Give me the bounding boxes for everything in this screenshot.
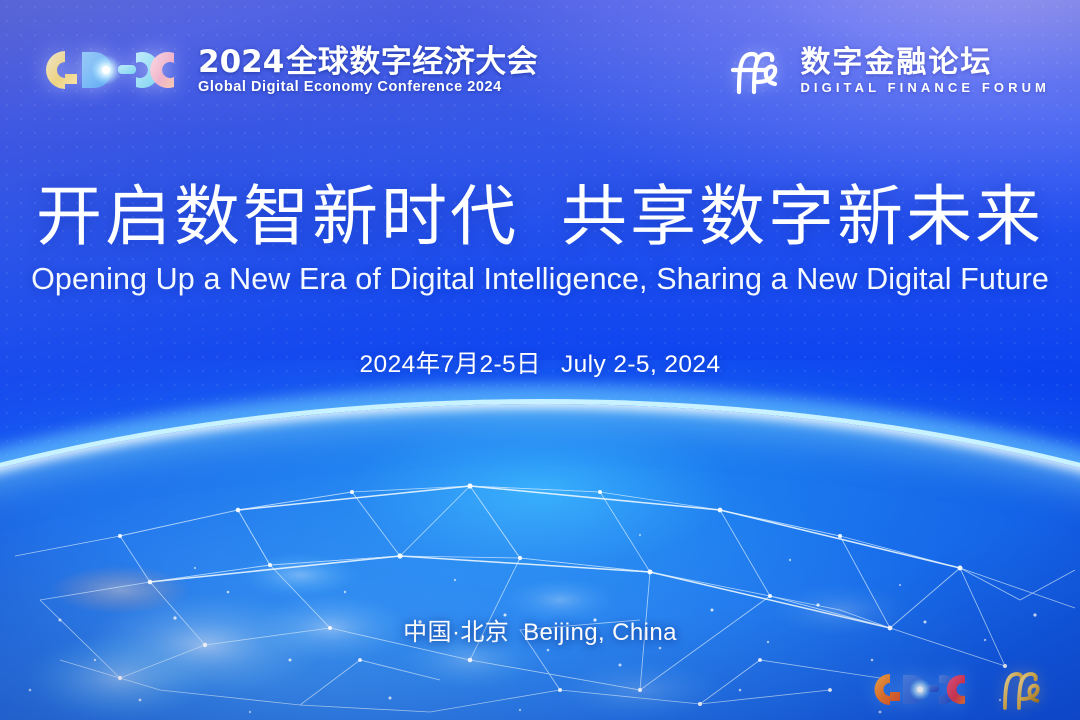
main-copy: 开启数智新时代共享数字新未来 Opening Up a New Era of D… bbox=[0, 180, 1080, 380]
headline-cn: 开启数智新时代共享数字新未来 bbox=[0, 180, 1080, 254]
forum-title-cn: 数字金融论坛 bbox=[800, 47, 1050, 79]
gdec-logo-lockup[interactable]: 2024全球数字经济大会 Global Digital Economy Conf… bbox=[32, 44, 538, 96]
event-date-en: July 2-5, 2024 bbox=[561, 351, 721, 378]
ff-monogram-icon bbox=[725, 46, 787, 96]
event-date-cn: 2024年7月2-5日 bbox=[360, 351, 541, 378]
conference-backdrop: 2024全球数字经济大会 Global Digital Economy Conf… bbox=[0, 0, 1080, 720]
event-location-cn: 中国·北京 bbox=[403, 619, 509, 646]
gdec-logo-mark-footer[interactable] bbox=[868, 669, 972, 711]
event-location-en: Beijing, China bbox=[523, 619, 677, 646]
footer-logos bbox=[868, 668, 1046, 712]
earth-globe bbox=[0, 360, 1080, 720]
headline-en: Opening Up a New Era of Digital Intellig… bbox=[0, 262, 1080, 297]
headline-cn-part2: 共享数字新未来 bbox=[561, 179, 1044, 253]
header: 2024全球数字经济大会 Global Digital Economy Conf… bbox=[0, 0, 1080, 130]
forum-title-en: DIGITAL FINANCE FORUM bbox=[800, 81, 1050, 95]
event-location: 中国·北京Beijing, China bbox=[0, 612, 1080, 647]
gdec-logo-mark bbox=[32, 44, 184, 96]
conference-year: 2024 bbox=[198, 44, 284, 80]
dff-logo-lockup[interactable]: 数字金融论坛 DIGITAL FINANCE FORUM bbox=[725, 46, 1050, 96]
conference-title-cn: 2024全球数字经济大会 bbox=[198, 46, 538, 78]
conference-title-en: Global Digital Economy Conference 2024 bbox=[198, 80, 538, 96]
headline-cn-part1: 开启数智新时代 bbox=[36, 179, 519, 253]
ff-monogram-icon-footer[interactable] bbox=[994, 668, 1046, 712]
conference-title-cn-rest: 全球数字经济大会 bbox=[286, 44, 538, 79]
event-date: 2024年7月2-5日July 2-5, 2024 bbox=[0, 345, 1080, 380]
dff-logo-text: 数字金融论坛 DIGITAL FINANCE FORUM bbox=[800, 47, 1050, 95]
gdec-logo-text: 2024全球数字经济大会 Global Digital Economy Conf… bbox=[198, 44, 538, 95]
